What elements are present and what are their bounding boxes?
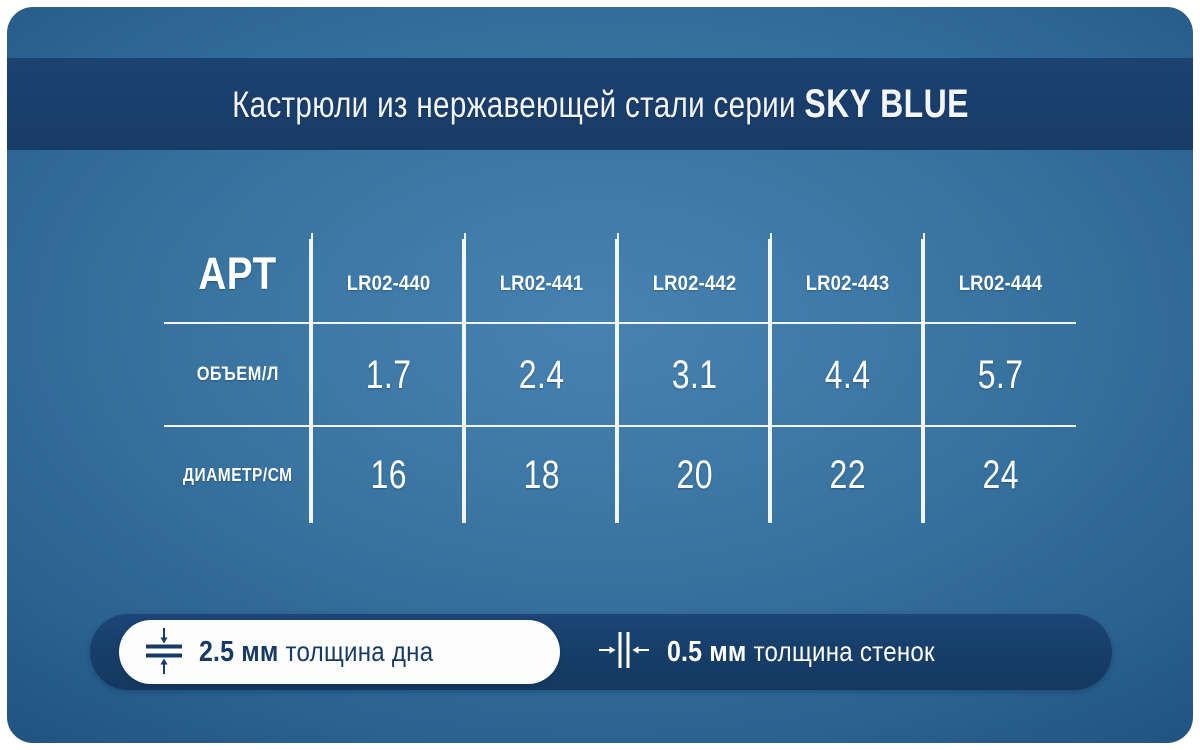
product-spec-card: Кастрюли из нержавеющей стали серии SKY … <box>7 7 1193 743</box>
table-cell-diameter-441: 18 <box>464 427 617 523</box>
cell-value: 1.7 <box>366 355 412 395</box>
cell-value: 24 <box>982 455 1018 495</box>
cell-value: 4.4 <box>825 355 871 395</box>
cell-value: 5.7 <box>978 355 1024 395</box>
cell-value: 18 <box>523 455 559 495</box>
table-cell-diameter-444: 24 <box>923 427 1076 523</box>
badge-bottom-thickness-text: 2.5 мм толщина дна <box>199 638 433 667</box>
bottom-thickness-icon <box>143 625 185 680</box>
spec-badge-band: 2.5 мм толщина дна <box>90 614 1112 690</box>
table-header-cell-lr02-441: LR02-441 <box>464 233 617 322</box>
badge-value: 2.5 мм <box>199 636 279 668</box>
table-header-art-label: АРТ <box>198 251 276 296</box>
badge-bottom-thickness: 2.5 мм толщина дна <box>119 620 560 684</box>
page-title: Кастрюли из нержавеющей стали серии SKY … <box>232 84 969 124</box>
table-header-cell-lr02-440: LR02-440 <box>311 233 464 322</box>
table-row-label-volume: ОБЪЕМ/Л <box>164 324 311 425</box>
table-column-divider <box>462 239 464 523</box>
table-header-cell-lr02-444: LR02-444 <box>923 233 1076 322</box>
table-cell-diameter-440: 16 <box>311 427 464 523</box>
row-label-text: ДИАМЕТР/СМ <box>183 466 293 484</box>
badge-wall-thickness: 0.5 мм толщина стенок <box>595 614 978 690</box>
wall-thickness-icon <box>595 627 653 678</box>
poster-canvas: Кастрюли из нержавеющей стали серии SKY … <box>0 0 1200 750</box>
table-header-code-label: LR02-441 <box>500 273 584 294</box>
table-header-row: АРТ LR02-440 LR02-441 LR02-442 LR02-443 … <box>164 233 1076 322</box>
title-band: Кастрюли из нержавеющей стали серии SKY … <box>7 58 1193 150</box>
table-header-code-label: LR02-440 <box>347 273 431 294</box>
badge-label <box>747 636 754 667</box>
cell-value: 3.1 <box>672 355 718 395</box>
table-header-code-label: LR02-442 <box>653 273 737 294</box>
badge-value: 0.5 мм <box>667 636 747 668</box>
table-header-cell-art: АРТ <box>164 233 311 322</box>
cell-value: 2.4 <box>519 355 565 395</box>
table-cell-diameter-442: 20 <box>617 427 770 523</box>
table-row-volume: ОБЪЕМ/Л 1.7 2.4 3.1 4.4 5.7 <box>164 322 1076 425</box>
cell-value: 20 <box>676 455 712 495</box>
table-row-label-diameter: ДИАМЕТР/СМ <box>164 427 311 523</box>
table-row-diameter: ДИАМЕТР/СМ 16 18 20 22 24 <box>164 425 1076 523</box>
cell-value: 16 <box>370 455 406 495</box>
badge-description: толщина дна <box>285 636 433 667</box>
table-header-code-label: LR02-444 <box>959 273 1043 294</box>
table-header-cell-lr02-443: LR02-443 <box>770 233 923 322</box>
table-column-divider <box>309 239 311 523</box>
table-cell-volume-441: 2.4 <box>464 324 617 425</box>
table-column-divider <box>615 239 617 523</box>
badge-description: толщина стенок <box>753 636 934 667</box>
table-header-cell-lr02-442: LR02-442 <box>617 233 770 322</box>
badge-label <box>279 636 286 667</box>
table-column-divider <box>921 239 923 523</box>
table-header-code-label: LR02-443 <box>806 273 890 294</box>
page-title-prefix: Кастрюли из нержавеющей стали серии <box>232 84 804 125</box>
cell-value: 22 <box>829 455 865 495</box>
table-cell-volume-443: 4.4 <box>770 324 923 425</box>
table-cell-volume-444: 5.7 <box>923 324 1076 425</box>
badge-wall-thickness-text: 0.5 мм толщина стенок <box>667 638 935 667</box>
table-cell-volume-440: 1.7 <box>311 324 464 425</box>
page-title-brand: SKY BLUE <box>804 82 968 126</box>
spec-table: АРТ LR02-440 LR02-441 LR02-442 LR02-443 … <box>164 233 1076 523</box>
table-cell-diameter-443: 22 <box>770 427 923 523</box>
row-label-text: ОБЪЕМ/Л <box>196 365 278 384</box>
table-column-divider <box>768 239 770 523</box>
table-cell-volume-442: 3.1 <box>617 324 770 425</box>
